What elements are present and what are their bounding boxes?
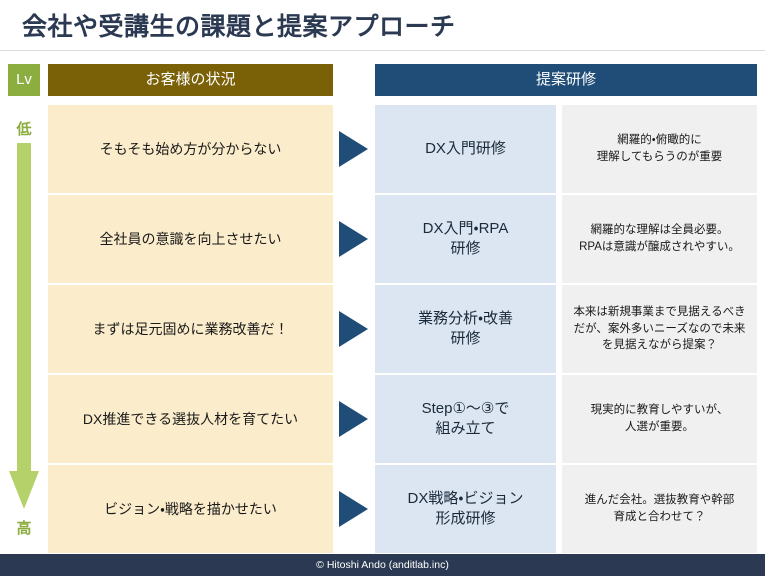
table-row: 全社員の意識を向上させたい DX入門・RPA研修 網羅的な理解は全員必要。RPA…: [0, 195, 765, 283]
table-row: そもそも始め方が分からない DX入門研修 網羅的・俯瞰的に理解してもらうのが重要: [0, 105, 765, 193]
comment-cell: 網羅的な理解は全員必要。RPAは意識が醸成されやすい。: [562, 195, 757, 283]
training-cell: DX入門・RPA研修: [375, 195, 556, 283]
situation-cell: ビジョン・戦略を描かせたい: [48, 465, 333, 553]
comment-cell: 網羅的・俯瞰的に理解してもらうのが重要: [562, 105, 757, 193]
training-cell: DX戦略・ビジョン形成研修: [375, 465, 556, 553]
table-row: まずは足元固めに業務改善だ！ 業務分析・改善研修 本来は新規事業まで見据えるべき…: [0, 285, 765, 373]
training-cell: DX入門研修: [375, 105, 556, 193]
column-header-training: 提案研修: [375, 64, 757, 96]
arrow-right-icon: [339, 491, 368, 527]
slide-canvas: 会社や受講生の課題と提案アプローチ Lv お客様の状況 提案研修 低 高 そもそ…: [0, 0, 765, 576]
training-cell: Step①～③で組み立て: [375, 375, 556, 463]
column-header-situation: お客様の状況: [48, 64, 333, 96]
comment-cell: 現実的に教育しやすいが、人選が重要。: [562, 375, 757, 463]
situation-cell: 全社員の意識を向上させたい: [48, 195, 333, 283]
table-row: DX推進できる選抜人材を育てたい Step①～③で組み立て 現実的に教育しやすい…: [0, 375, 765, 463]
training-cell: 業務分析・改善研修: [375, 285, 556, 373]
situation-cell: そもそも始め方が分からない: [48, 105, 333, 193]
page-title: 会社や受講生の課題と提案アプローチ: [22, 8, 722, 46]
footer-credit: © Hitoshi Ando (anditlab.inc): [0, 554, 765, 576]
comment-cell: 進んだ会社。選抜教育や幹部育成と合わせて？: [562, 465, 757, 553]
title-divider: [0, 50, 765, 51]
table-row: ビジョン・戦略を描かせたい DX戦略・ビジョン形成研修 進んだ会社。選抜教育や幹…: [0, 465, 765, 553]
situation-cell: DX推進できる選抜人材を育てたい: [48, 375, 333, 463]
arrow-right-icon: [339, 131, 368, 167]
arrow-right-icon: [339, 221, 368, 257]
arrow-right-icon: [339, 401, 368, 437]
column-header-level: Lv: [8, 64, 40, 96]
comment-cell: 本来は新規事業まで見据えるべきだが、案外多いニーズなので未来を見据えながら提案？: [562, 285, 757, 373]
arrow-right-icon: [339, 311, 368, 347]
situation-cell: まずは足元固めに業務改善だ！: [48, 285, 333, 373]
